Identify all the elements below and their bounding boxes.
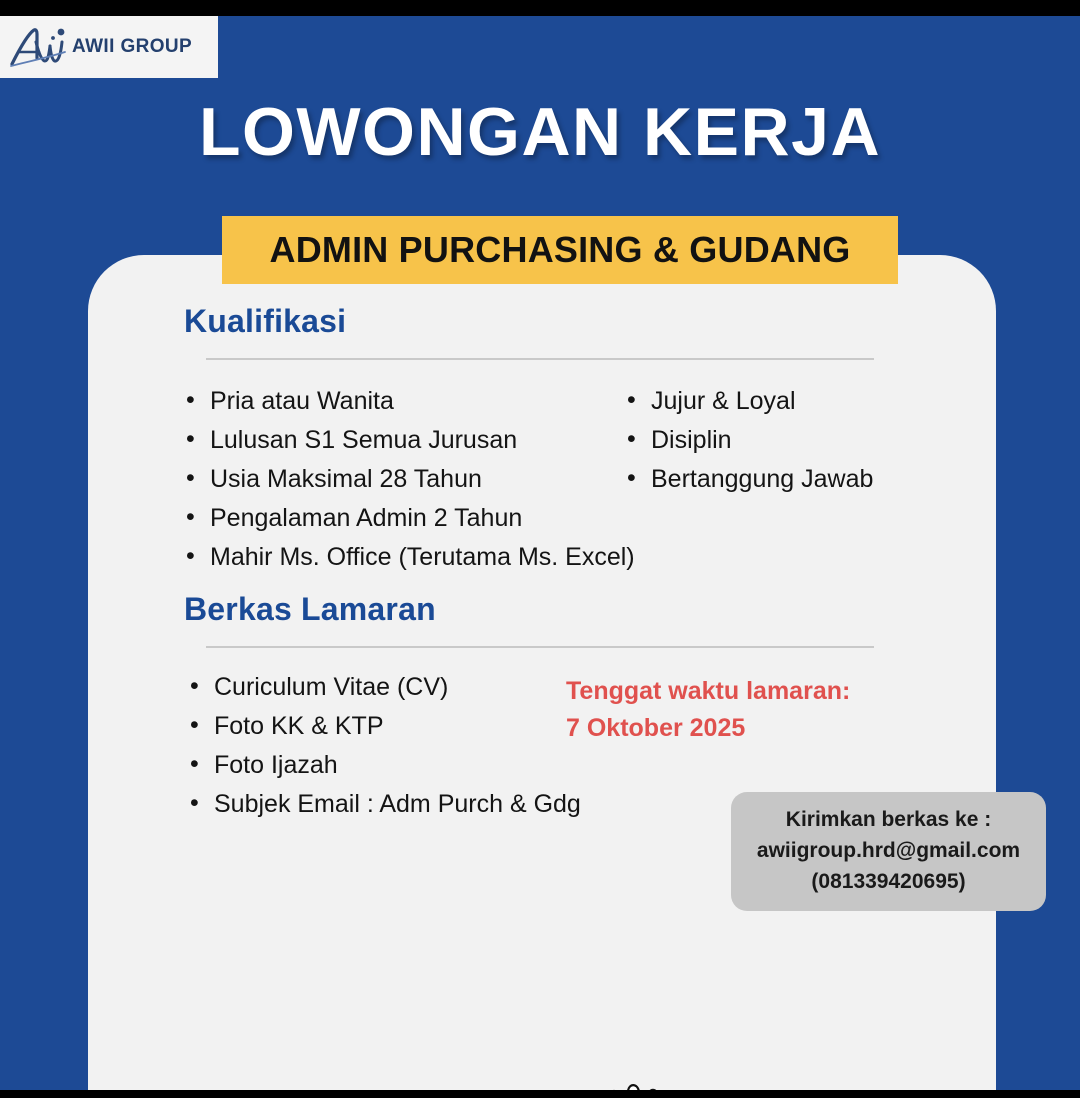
list-item: Subjek Email : Adm Purch & Gdg bbox=[188, 785, 581, 824]
position-banner-label: ADMIN PURCHASING & GUDANG bbox=[270, 229, 851, 271]
list-item: Pria atau Wanita bbox=[184, 382, 635, 421]
contact-label: Kirimkan berkas ke : bbox=[741, 804, 1036, 835]
page-title: LOWONGAN KERJA bbox=[0, 98, 1080, 166]
list-item: Disiplin bbox=[625, 421, 873, 460]
deadline-label: Tenggat waktu lamaran: bbox=[566, 673, 850, 710]
top-letterbox-bar bbox=[0, 0, 1080, 16]
company-name: AWII GROUP bbox=[72, 36, 192, 58]
list-item: Curiculum Vitae (CV) bbox=[188, 668, 581, 707]
qualifications-divider bbox=[206, 358, 874, 360]
documents-heading: Berkas Lamaran bbox=[184, 591, 436, 628]
list-item: Jujur & Loyal bbox=[625, 382, 873, 421]
list-item: Foto KK & KTP bbox=[188, 707, 581, 746]
list-item: Usia Maksimal 28 Tahun bbox=[184, 460, 635, 499]
contact-email[interactable]: awiigroup.hrd@gmail.com bbox=[741, 835, 1036, 866]
content-card: Kualifikasi Pria atau Wanita Lulusan S1 … bbox=[88, 255, 996, 1090]
documents-divider bbox=[206, 646, 874, 648]
documents-list: Curiculum Vitae (CV) Foto KK & KTP Foto … bbox=[188, 668, 581, 824]
list-item: Pengalaman Admin 2 Tahun bbox=[184, 499, 635, 538]
four-people-high-five-icon bbox=[208, 1083, 908, 1090]
list-item: Foto Ijazah bbox=[188, 746, 581, 785]
bottom-letterbox-bar bbox=[0, 1090, 1080, 1098]
deadline-date: 7 Oktober 2025 bbox=[566, 710, 850, 747]
list-item: Lulusan S1 Semua Jurusan bbox=[184, 421, 635, 460]
position-banner: ADMIN PURCHASING & GUDANG bbox=[222, 216, 898, 284]
qualifications-left-list: Pria atau Wanita Lulusan S1 Semua Jurusa… bbox=[184, 382, 635, 577]
job-vacancy-poster: AWII GROUP LOWONGAN KERJA ADMIN PURCHASI… bbox=[0, 0, 1080, 1098]
deadline-block: Tenggat waktu lamaran: 7 Oktober 2025 bbox=[566, 673, 850, 747]
qualifications-right-list: Jujur & Loyal Disiplin Bertanggung Jawab bbox=[625, 382, 873, 499]
list-item: Bertanggung Jawab bbox=[625, 460, 873, 499]
list-item: Mahir Ms. Office (Terutama Ms. Excel) bbox=[184, 538, 635, 577]
awii-monogram-icon bbox=[8, 24, 70, 70]
contact-phone[interactable]: (081339420695) bbox=[741, 866, 1036, 897]
company-logo-badge: AWII GROUP bbox=[0, 16, 218, 78]
contact-box: Kirimkan berkas ke : awiigroup.hrd@gmail… bbox=[731, 792, 1046, 911]
qualifications-heading: Kualifikasi bbox=[184, 303, 346, 340]
